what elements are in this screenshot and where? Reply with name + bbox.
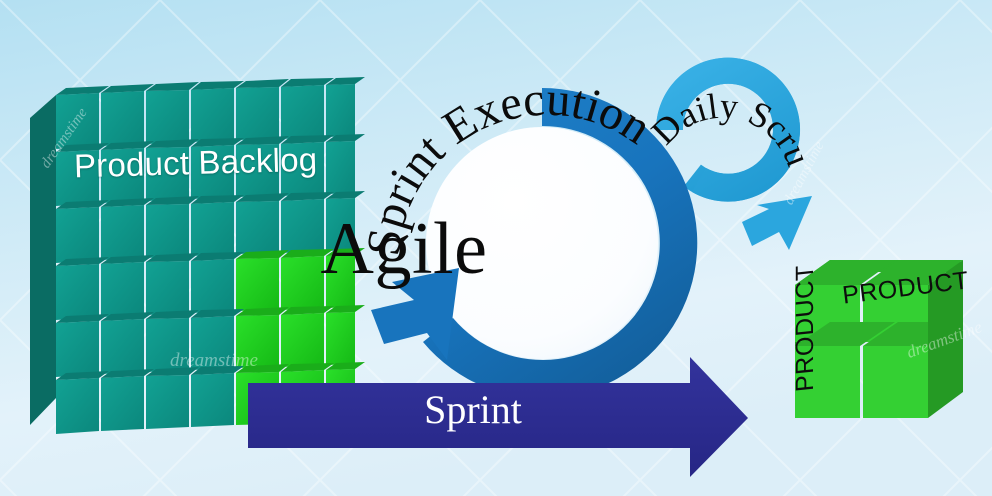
agile-diagram-canvas: Sprint Execution Daily Scrum xyxy=(0,0,992,496)
product-backlog-wall xyxy=(30,77,365,434)
product-cube xyxy=(795,260,963,418)
sprint-execution-arrowhead xyxy=(371,268,459,360)
artwork-layer: Sprint Execution Daily Scrum xyxy=(0,0,992,496)
backlog-cube xyxy=(326,77,365,137)
backlog-cube-green xyxy=(326,248,365,308)
product-cube-right-face xyxy=(928,260,963,418)
backlog-cube xyxy=(326,134,365,194)
backlog-cube-green xyxy=(326,305,365,365)
daily-scrum-arrowhead xyxy=(742,196,812,250)
circle-inner-disc xyxy=(426,127,658,359)
backlog-wall-left-side xyxy=(30,95,56,425)
